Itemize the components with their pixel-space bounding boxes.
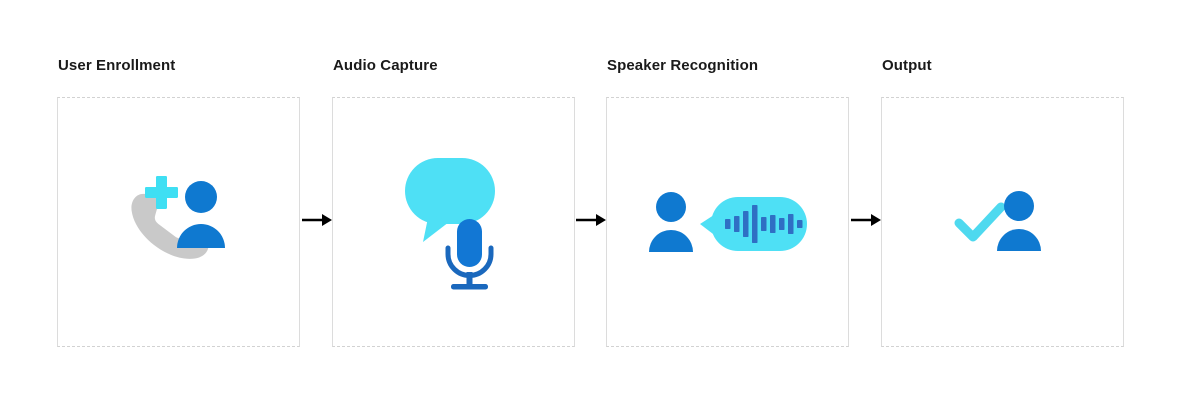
stage-label-speaker-recognition: Speaker Recognition xyxy=(607,57,849,75)
person-avatar-icon xyxy=(997,191,1041,251)
pipeline-diagram: User Enrollment xyxy=(0,0,1180,400)
arrow-recognition-to-output xyxy=(850,210,882,230)
checkmark-icon xyxy=(959,207,1001,237)
stage-label-user-enrollment: User Enrollment xyxy=(58,57,300,75)
person-avatar-icon xyxy=(177,181,225,248)
stage-audio-capture: Audio Capture xyxy=(332,57,575,347)
speech-bubble-microphone-icon xyxy=(399,150,509,295)
microphone-icon xyxy=(448,219,491,290)
arrow-enrollment-to-capture xyxy=(301,210,333,230)
arrow-capture-to-recognition xyxy=(575,210,607,230)
person-voice-waveform-icon xyxy=(645,187,810,257)
phone-add-user-icon xyxy=(119,167,239,277)
stage-label-audio-capture: Audio Capture xyxy=(333,57,575,75)
stage-panel-output xyxy=(881,97,1124,347)
stage-panel-user-enrollment xyxy=(57,97,300,347)
stage-user-enrollment: User Enrollment xyxy=(57,57,300,347)
stage-label-output: Output xyxy=(882,57,1124,75)
stage-panel-audio-capture xyxy=(332,97,575,347)
stage-output: Output xyxy=(881,57,1124,347)
verified-user-icon xyxy=(953,187,1053,257)
stage-speaker-recognition: Speaker Recognition xyxy=(606,57,849,347)
stage-panel-speaker-recognition xyxy=(606,97,849,347)
person-avatar-icon xyxy=(649,192,693,252)
